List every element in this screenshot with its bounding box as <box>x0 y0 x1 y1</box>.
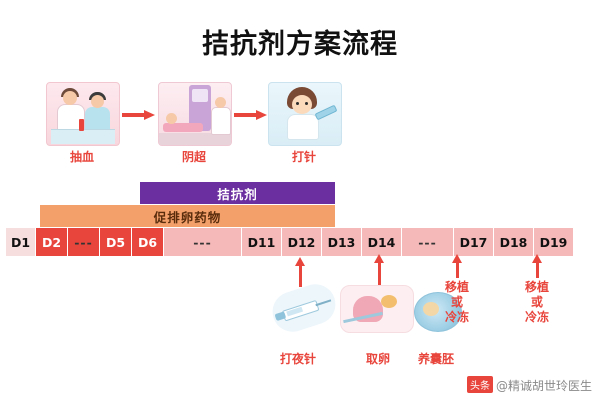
table-shape <box>51 129 115 144</box>
transfer-d19-line-2: 或 <box>507 295 567 310</box>
callout-label-egg-retrieval: 取卵 <box>348 352 408 367</box>
callout-arrow-d17 <box>456 262 459 278</box>
bar-ovulation-drugs-label: 促排卵药物 <box>154 207 222 226</box>
watermark-badge: 头条 <box>467 376 493 393</box>
nurse-head-shape <box>63 91 77 105</box>
injection-illustration <box>268 82 342 146</box>
callout-arrow-d12 <box>299 265 302 287</box>
ultrasound-illustration <box>158 82 232 146</box>
syringe-icon <box>315 105 338 121</box>
timeline-day-D18: D18 <box>494 228 534 256</box>
watermark: 头条@精诚胡世玲医生 <box>467 376 592 394</box>
timeline-day-D19: D19 <box>534 228 574 256</box>
callout-label-night-injection: 打夜针 <box>268 352 328 367</box>
timeline-day-D1: D1 <box>6 228 36 256</box>
bar-ovulation-drugs: 促排卵药物 <box>40 205 335 227</box>
blood-draw-illustration <box>46 82 120 146</box>
timeline: D1D2---D5D6---D11D12D13D14---D17D18D19 <box>6 228 566 256</box>
ovary-illustration <box>340 285 414 333</box>
callout-label-transfer-d17: 移植 或 冷冻 <box>427 280 487 325</box>
exam-bed-shape <box>163 123 203 132</box>
diagram-canvas: 拮抗剂方案流程 抽血 阴超 <box>0 0 600 400</box>
girl-eye-left <box>296 102 299 105</box>
transfer-d17-line-1: 移植 <box>427 280 487 295</box>
callout-label-blastocyst: 养囊胚 <box>406 352 466 367</box>
callout-arrow-d19 <box>536 262 539 278</box>
doctor-head-shape <box>215 97 226 108</box>
timeline-day-D11: D11 <box>242 228 282 256</box>
girl-body-shape <box>287 114 319 140</box>
transfer-d17-line-2: 或 <box>427 295 487 310</box>
doctor-body-shape <box>211 107 231 135</box>
transfer-d17-line-3: 冷冻 <box>427 310 487 325</box>
arrow-head <box>256 110 267 120</box>
patient2-head-shape <box>166 113 177 124</box>
syringe-illustration <box>267 279 340 337</box>
girl-face-shape <box>292 95 312 114</box>
arrow-shaft <box>234 113 258 117</box>
ultrasound-screen-shape <box>192 89 208 102</box>
timeline-day-D6: D6 <box>132 228 164 256</box>
blood-tube-icon <box>79 119 84 131</box>
timeline-day-D5: D5 <box>100 228 132 256</box>
bar-antagonist-label: 拮抗剂 <box>217 184 258 203</box>
timeline-day-D17: D17 <box>454 228 494 256</box>
syringe-needle <box>315 299 331 306</box>
step-label-ultrasound: 阴超 <box>149 148 239 165</box>
timeline-day-D2: D2 <box>36 228 68 256</box>
timeline-day-gapgapgap: --- <box>402 228 454 256</box>
callout-arrow-d14 <box>378 262 381 286</box>
timeline-day-D12: D12 <box>282 228 322 256</box>
step-label-injection: 打针 <box>259 148 349 165</box>
girl-eye-right <box>305 102 308 105</box>
transfer-d19-line-3: 冷冻 <box>507 310 567 325</box>
process-steps: 抽血 阴超 打针 <box>28 82 328 172</box>
ovary-shape <box>381 295 397 308</box>
patient-head-shape <box>91 95 104 108</box>
timeline-day-D13: D13 <box>322 228 362 256</box>
arrow-head <box>144 110 155 120</box>
transfer-d19-line-1: 移植 <box>507 280 567 295</box>
arrow-shaft <box>122 113 146 117</box>
arrow-right-icon-1 <box>122 110 156 120</box>
timeline-day-D14: D14 <box>362 228 402 256</box>
watermark-text: @精诚胡世玲医生 <box>496 379 592 393</box>
callout-label-transfer-d19: 移植 或 冷冻 <box>507 280 567 325</box>
page-title: 拮抗剂方案流程 <box>0 22 600 61</box>
bar-antagonist: 拮抗剂 <box>140 182 335 204</box>
timeline-day-gapgapgap: --- <box>164 228 242 256</box>
step-label-blood-draw: 抽血 <box>37 148 127 165</box>
arrow-right-icon-2 <box>234 110 268 120</box>
timeline-day-gapgapgap: --- <box>68 228 100 256</box>
